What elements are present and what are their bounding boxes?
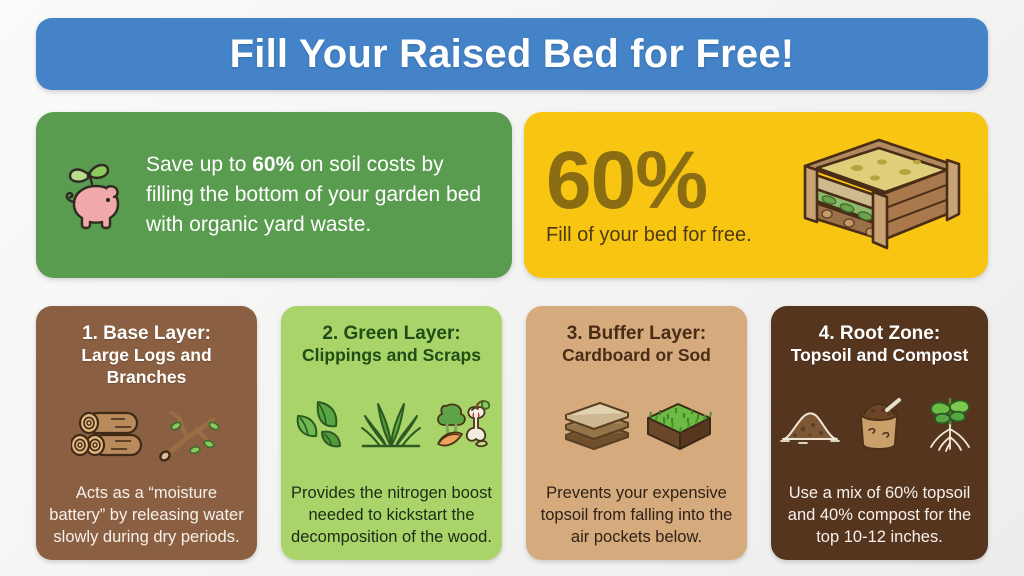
- layer-card-buffer: 3. Buffer Layer: Cardboard or Sod: [526, 306, 747, 560]
- layer-title-main: 3. Buffer Layer:: [562, 322, 711, 345]
- layer-title-sub: Large Logs and Branches: [46, 345, 247, 388]
- layer-card-base: 1. Base Layer: Large Logs and Branches: [36, 306, 257, 560]
- grass-clippings-icon: [360, 396, 422, 452]
- stat-text-group: 60% Fill of your bed for free.: [546, 143, 752, 247]
- leaves-icon: [292, 396, 350, 452]
- layer-title-main: 4. Root Zone:: [791, 322, 969, 345]
- layer-title: 4. Root Zone: Topsoil and Compost: [791, 322, 969, 367]
- log-stack-icon: [71, 407, 147, 463]
- layer-icons: [46, 388, 247, 482]
- layer-description: Acts as a “moisture battery” by releasin…: [46, 482, 247, 552]
- layer-description: Provides the nitrogen boost needed to ki…: [291, 482, 492, 552]
- stat-card: 60% Fill of your bed for free.: [524, 112, 988, 278]
- layer-card-green: 2. Green Layer: Clippings and Scraps: [281, 306, 502, 560]
- layer-card-root-zone: 4. Root Zone: Topsoil and Compost: [771, 306, 988, 560]
- compost-bag-icon: [851, 396, 909, 452]
- seedling-roots-icon: [919, 395, 981, 453]
- layer-title-sub: Cardboard or Sod: [562, 345, 711, 366]
- savings-card: Save up to 60% on soil costs by filling …: [36, 112, 512, 278]
- page-title: Fill Your Raised Bed for Free!: [230, 34, 795, 74]
- stat-value: 60%: [546, 143, 752, 218]
- layer-title: 1. Base Layer: Large Logs and Branches: [46, 322, 247, 388]
- layer-description: Use a mix of 60% topsoil and 40% compost…: [781, 482, 978, 552]
- savings-text-before: Save up to: [146, 153, 252, 176]
- layer-description: Prevents your expensive topsoil from fal…: [536, 482, 737, 552]
- food-scraps-icon: [432, 396, 492, 452]
- soil-pile-icon: [779, 399, 841, 449]
- layer-title-sub: Clippings and Scraps: [302, 345, 481, 366]
- piggy-bank-sprout-icon: [50, 152, 136, 238]
- layer-icons: [536, 367, 737, 482]
- layer-title-main: 2. Green Layer:: [302, 322, 481, 345]
- sod-block-icon: [644, 396, 714, 452]
- cardboard-stack-icon: [560, 397, 634, 451]
- stat-caption: Fill of your bed for free.: [546, 224, 752, 247]
- layer-title-sub: Topsoil and Compost: [791, 345, 969, 366]
- layer-title: 3. Buffer Layer: Cardboard or Sod: [562, 322, 711, 367]
- layer-icons: [291, 367, 492, 482]
- savings-text: Save up to 60% on soil costs by filling …: [146, 150, 494, 239]
- layer-icons: [781, 367, 978, 482]
- header-banner: Fill Your Raised Bed for Free!: [36, 18, 988, 90]
- leafy-branch-icon: [157, 406, 223, 464]
- savings-highlight: 60%: [252, 153, 294, 176]
- layer-title: 2. Green Layer: Clippings and Scraps: [302, 322, 481, 367]
- infographic-poster: Fill Your Raised Bed for Free! Save up t…: [0, 0, 1024, 576]
- raised-bed-layers-icon: [787, 130, 972, 260]
- layer-title-main: 1. Base Layer:: [46, 322, 247, 345]
